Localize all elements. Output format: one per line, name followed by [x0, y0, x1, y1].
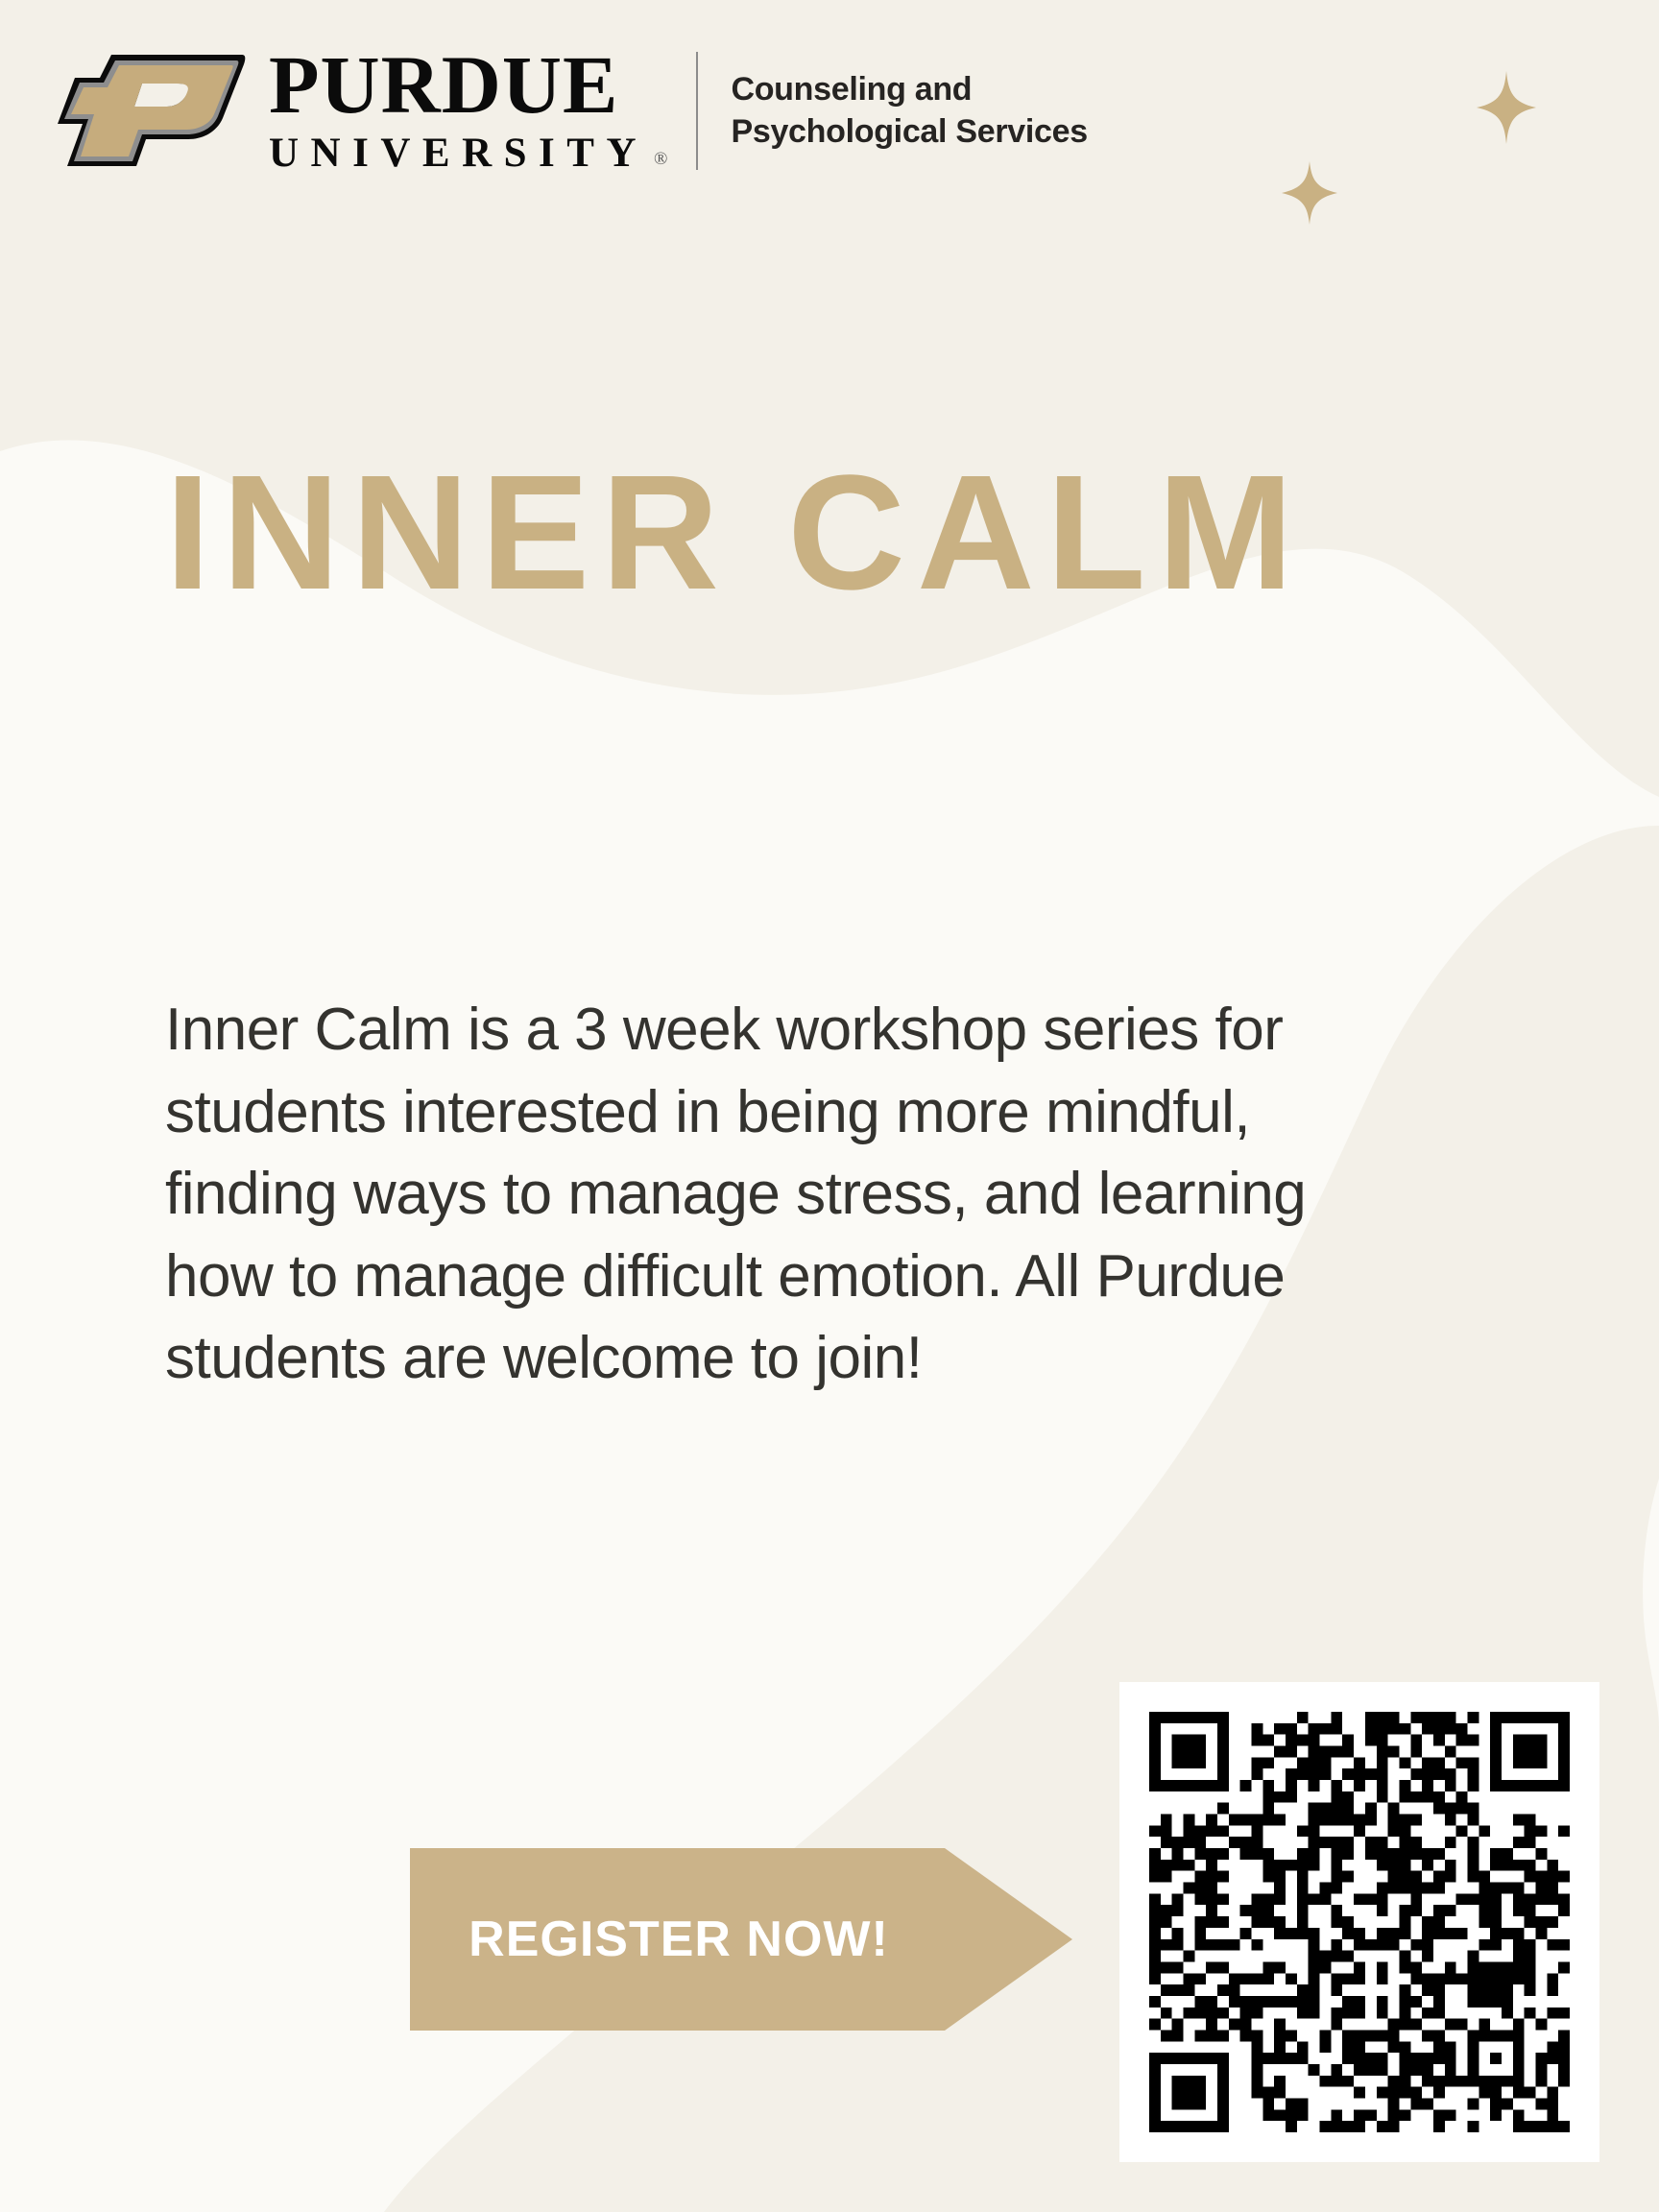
purdue-p-logo	[54, 49, 246, 172]
description-paragraph: Inner Calm is a 3 week workshop series f…	[165, 989, 1375, 1400]
wordmark-university: UNIVERSITY	[269, 125, 648, 176]
wordmark-university-row: UNIVERSITY ®	[269, 125, 667, 176]
qr-code-card[interactable]	[1119, 1682, 1599, 2162]
header-divider	[696, 52, 698, 170]
arrow-banner-shape	[410, 1848, 1072, 2031]
brand-header: PURDUE UNIVERSITY ® Counseling and Psych…	[54, 46, 1088, 176]
poster-canvas: PURDUE UNIVERSITY ® Counseling and Psych…	[0, 0, 1659, 2212]
register-now-button[interactable]: REGISTER NOW!	[410, 1848, 1072, 2031]
cobrand-line-1: Counseling and	[731, 70, 1087, 109]
registered-trademark-icon: ®	[654, 149, 667, 176]
sparkle-four-point-icon	[1477, 71, 1536, 144]
cobrand-unit: Counseling and Psychological Services	[731, 70, 1087, 153]
purdue-wordmark: PURDUE UNIVERSITY ®	[269, 46, 667, 176]
sparkle-four-point-icon	[1282, 161, 1337, 225]
page-title: INNER CALM	[165, 451, 1305, 614]
registration-qr-code	[1149, 1712, 1570, 2132]
cobrand-line-2: Psychological Services	[731, 112, 1087, 152]
background-wave-right-notch	[1643, 1479, 1659, 1728]
wordmark-purdue: PURDUE	[269, 46, 667, 125]
